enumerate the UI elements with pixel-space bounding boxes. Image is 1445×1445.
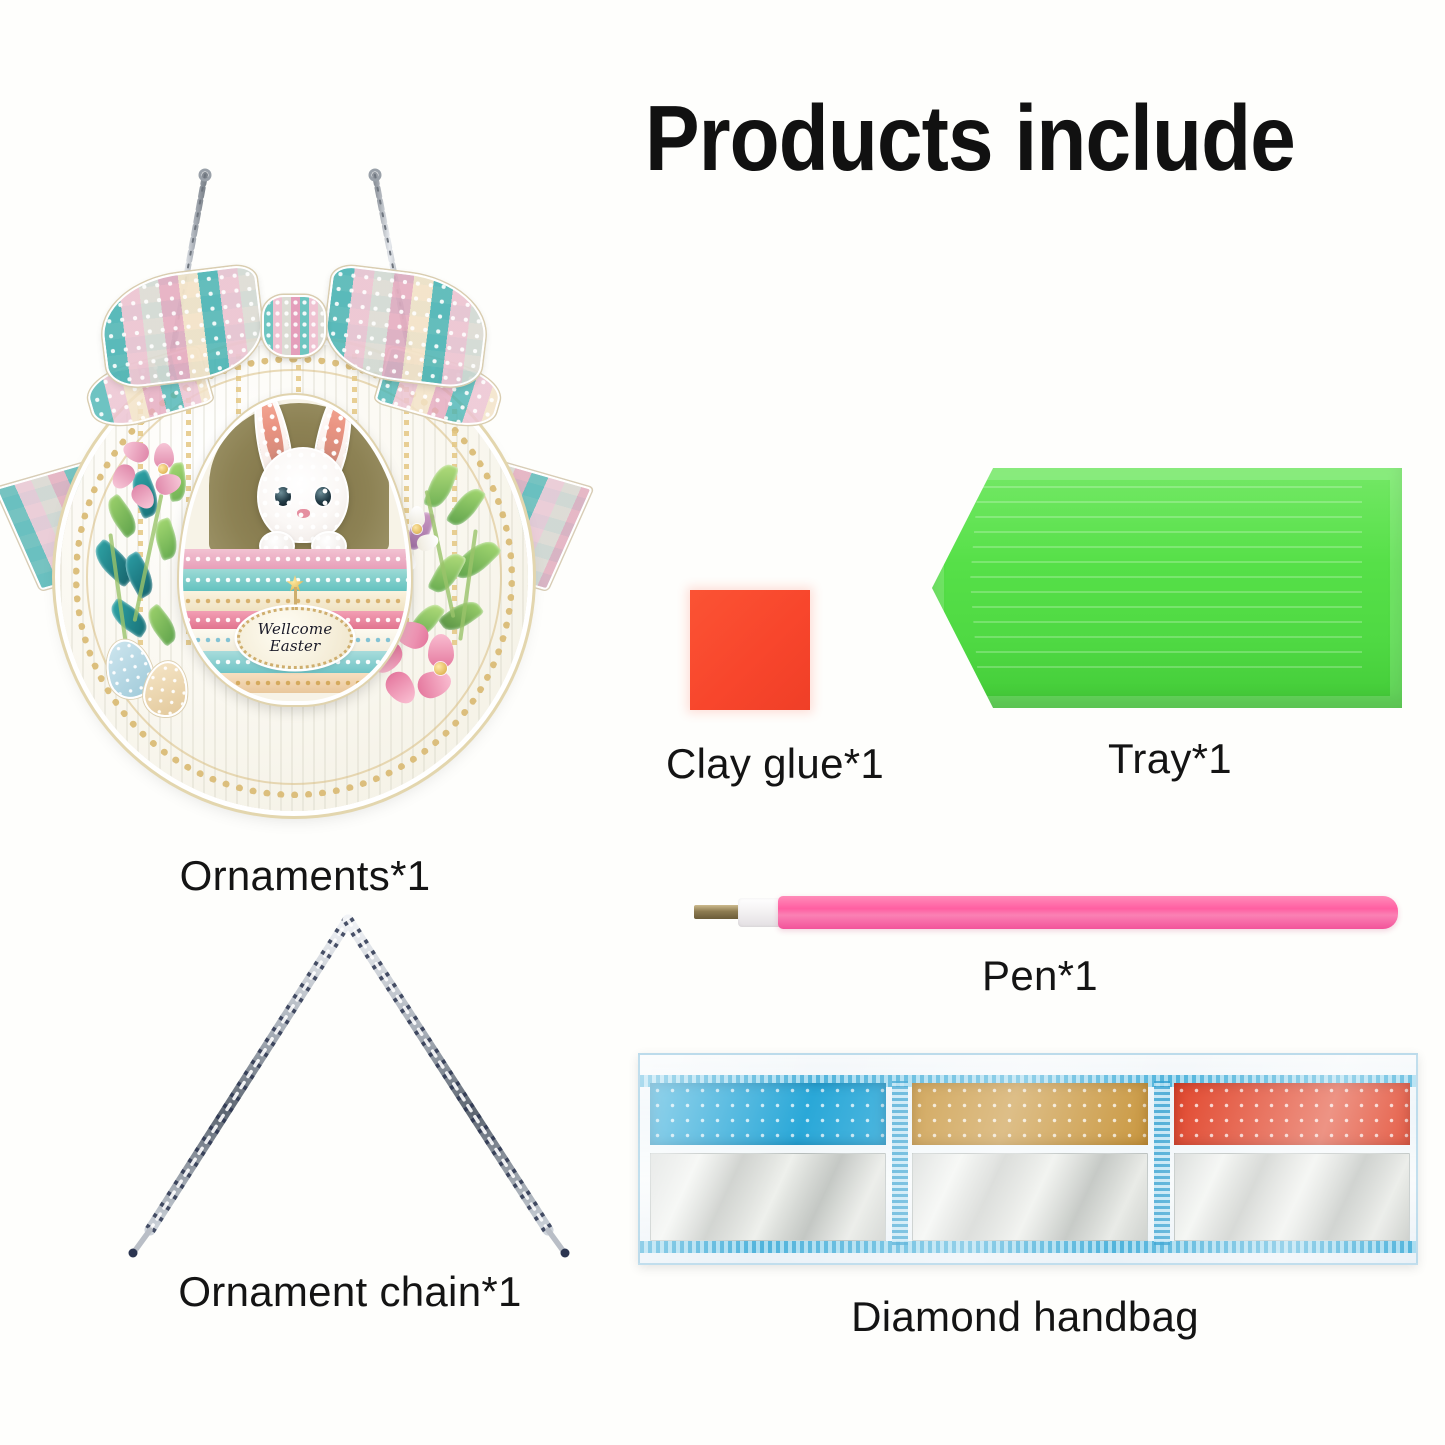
flower-icon bbox=[402, 629, 480, 707]
product-tray: Tray*1 bbox=[900, 440, 1440, 810]
egg-band bbox=[179, 549, 411, 569]
bunny-icon bbox=[247, 395, 359, 575]
caption-pen: Pen*1 bbox=[660, 952, 1420, 1000]
bunny-eye-left bbox=[275, 487, 291, 506]
caption-tray: Tray*1 bbox=[900, 735, 1440, 783]
bunny-eye-right bbox=[315, 487, 331, 506]
pen-barrel-icon bbox=[778, 896, 1398, 929]
egg-band bbox=[179, 673, 411, 693]
clay-glue-icon bbox=[690, 590, 810, 710]
tag-line-2: Easter bbox=[270, 638, 321, 655]
diamond-handbag-icon bbox=[638, 1053, 1418, 1265]
caption-ornament-chain: Ornament chain*1 bbox=[10, 1268, 690, 1316]
caption-ornaments: Ornaments*1 bbox=[20, 852, 590, 900]
product-ornament-chain: Ornament chain*1 bbox=[120, 900, 580, 1290]
blue-rhinestones bbox=[650, 1083, 886, 1145]
product-ornaments: Wellcome Easter Ornaments*1 bbox=[20, 80, 590, 840]
product-include-infographic: Products include bbox=[0, 0, 1445, 1445]
divider-zip bbox=[1154, 1081, 1170, 1245]
welcome-easter-tag: Wellcome Easter bbox=[237, 607, 353, 669]
plaid-bow-icon bbox=[102, 265, 486, 415]
caption-clay-glue: Clay glue*1 bbox=[625, 740, 925, 788]
product-clay-glue: Clay glue*1 bbox=[625, 560, 925, 810]
foil-strip bbox=[1174, 1153, 1410, 1241]
bunny-nose bbox=[297, 509, 310, 518]
gold-rhinestones bbox=[912, 1083, 1148, 1145]
pen-tip-icon bbox=[694, 905, 744, 919]
product-pen: Pen*1 bbox=[660, 870, 1420, 1040]
product-diamond-handbag: Diamond handbag bbox=[620, 1035, 1430, 1290]
ornament-chain-icon bbox=[120, 900, 580, 1260]
caption-diamond-handbag: Diamond handbag bbox=[620, 1293, 1430, 1341]
divider-zip bbox=[892, 1081, 908, 1245]
page-title: Products include bbox=[645, 92, 1340, 185]
tray-lip bbox=[932, 468, 1402, 708]
red-rhinestones bbox=[1174, 1083, 1410, 1145]
foil-strip bbox=[912, 1153, 1148, 1241]
bow-loop-right bbox=[320, 264, 492, 391]
foil-strip bbox=[650, 1153, 886, 1241]
tag-line-1: Wellcome bbox=[258, 621, 333, 638]
bag-zip-bottom bbox=[640, 1241, 1416, 1253]
flower-icon bbox=[134, 439, 194, 499]
pocket-red bbox=[1174, 1083, 1410, 1241]
pocket-gold bbox=[912, 1083, 1148, 1241]
ornament-artwork: Wellcome Easter bbox=[44, 265, 544, 765]
bow-knot bbox=[262, 295, 326, 357]
pocket-blue bbox=[650, 1083, 886, 1241]
tag-hook bbox=[294, 587, 297, 609]
bunny-head bbox=[257, 447, 349, 543]
bow-loop-left bbox=[96, 264, 268, 391]
